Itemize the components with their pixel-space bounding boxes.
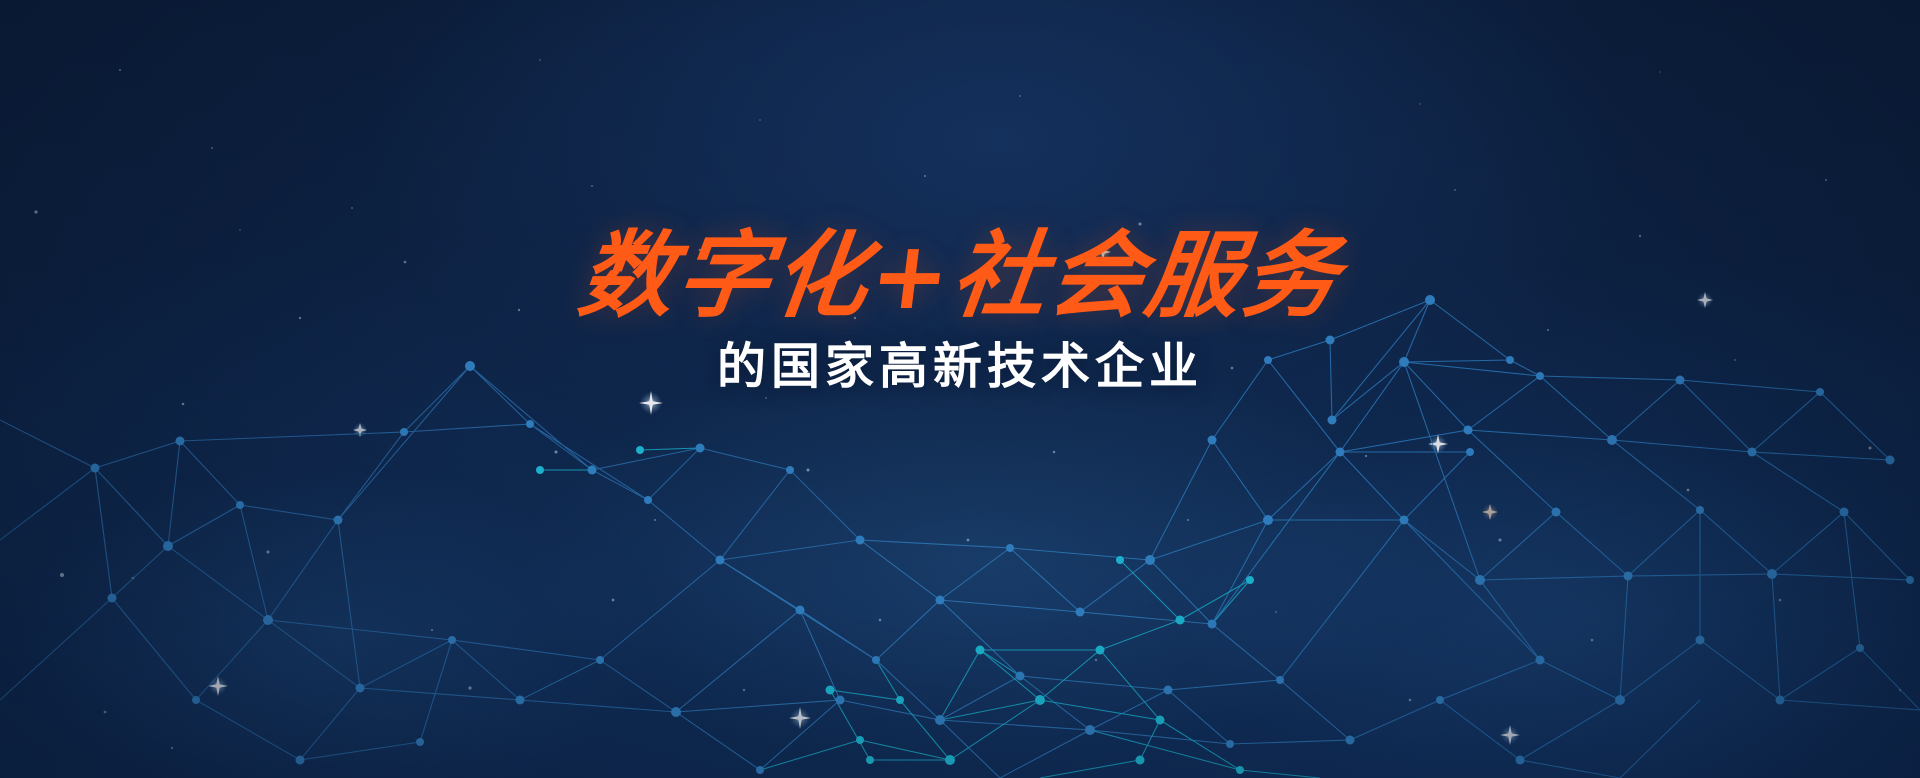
- mesh-nodes-blue: [91, 295, 1915, 774]
- mesh-nodes-cyan: [536, 446, 1254, 774]
- mesh-edges-center: [676, 540, 1350, 778]
- mesh-edges-right: [1150, 300, 1920, 778]
- network-mesh-graphic: [0, 0, 1920, 778]
- hero-banner: 数字化+社会服务 的国家高新技术企业: [0, 0, 1920, 778]
- mesh-edges-left: [0, 366, 860, 760]
